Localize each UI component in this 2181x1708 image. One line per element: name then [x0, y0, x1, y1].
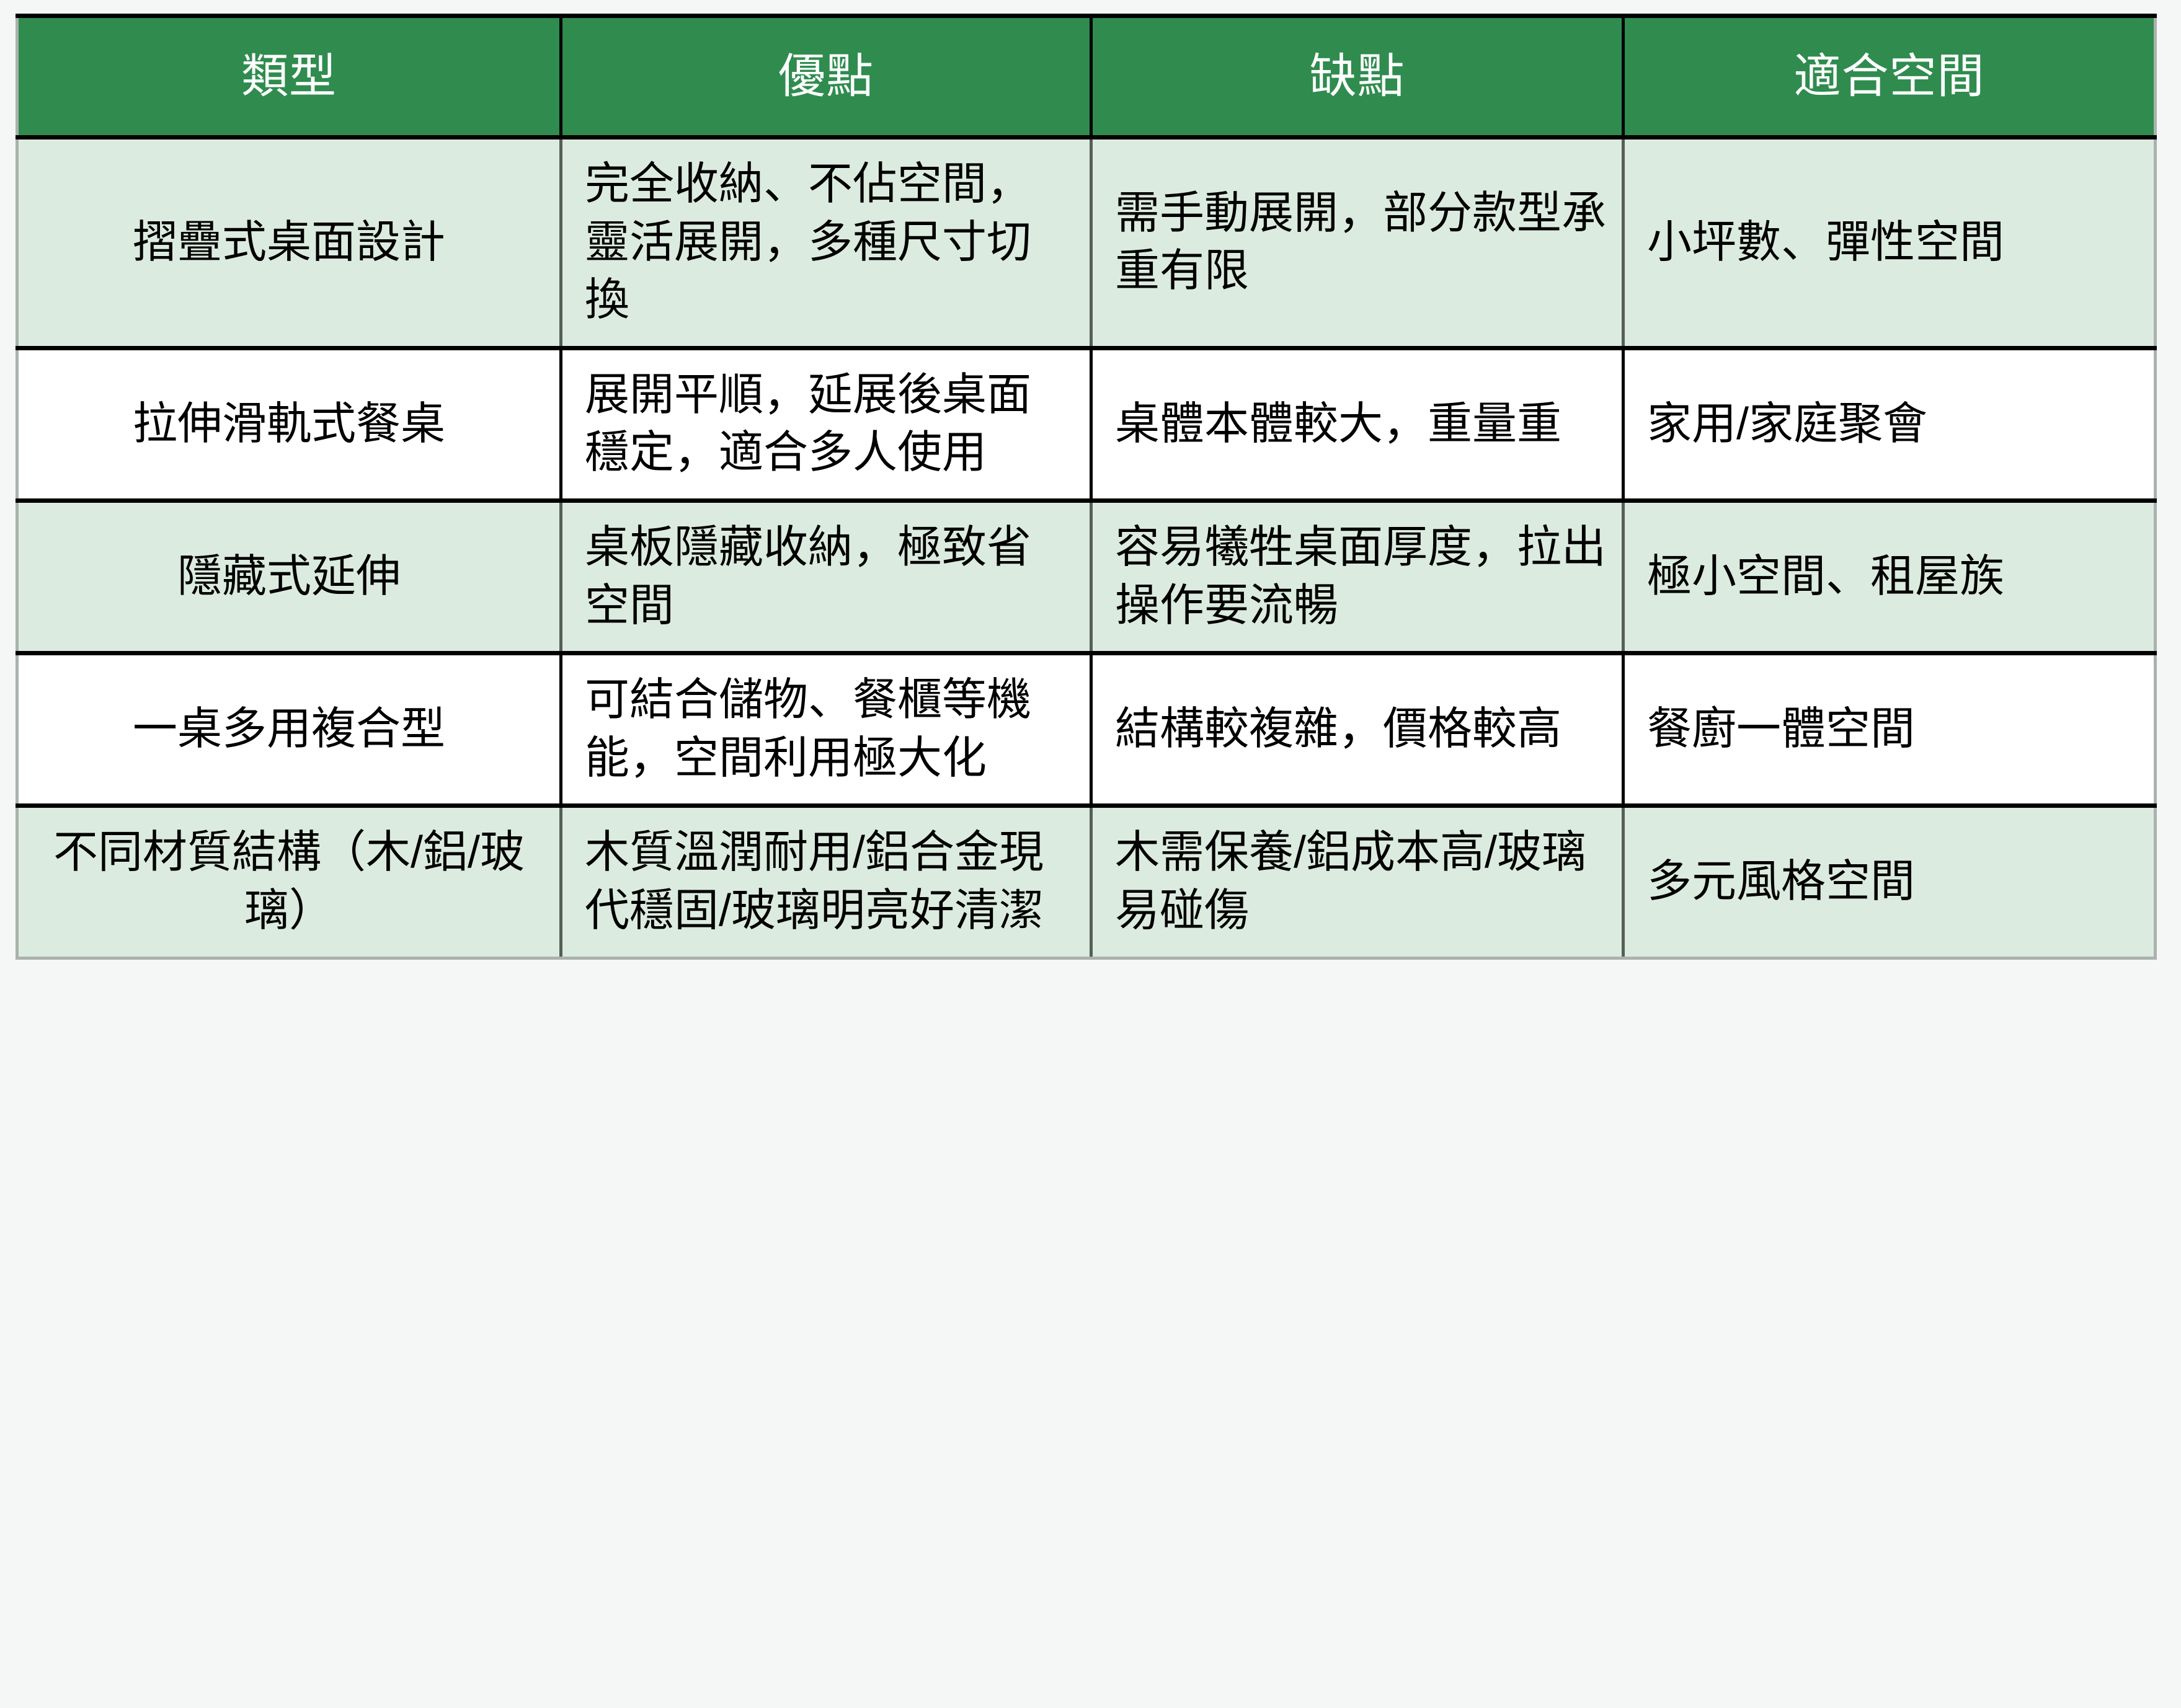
cell-space: 多元風格空間 — [1624, 806, 2156, 958]
cell-cons: 桌體本體較大，重量重 — [1091, 348, 1624, 500]
cell-space: 餐廚一體空間 — [1624, 653, 2156, 806]
cell-type: 拉伸滑軌式餐桌 — [17, 348, 561, 500]
cell-pros: 木質溫潤耐用/鋁合金現代穩固/玻璃明亮好清潔 — [561, 806, 1091, 958]
cell-pros: 完全收納、不佔空間，靈活展開，多種尺寸切換 — [561, 138, 1091, 348]
table-row: 不同材質結構（木/鋁/玻璃） 木質溫潤耐用/鋁合金現代穩固/玻璃明亮好清潔 木需… — [17, 806, 2156, 958]
table-row: 隱藏式延伸 桌板隱藏收納，極致省空間 容易犧牲桌面厚度，拉出操作要流暢 極小空間… — [17, 500, 2156, 653]
cell-space-text: 小坪數、彈性空間 — [1647, 214, 2139, 272]
cell-cons: 結構較複雜，價格較高 — [1091, 653, 1624, 806]
table-body: 摺疊式桌面設計 完全收納、不佔空間，靈活展開，多種尺寸切換 需手動展開，部分款型… — [17, 138, 2156, 958]
cell-space-text: 極小空間、租屋族 — [1647, 548, 2139, 606]
cell-cons: 容易犧牲桌面厚度，拉出操作要流暢 — [1091, 500, 1624, 653]
cell-cons: 木需保養/鋁成本高/玻璃易碰傷 — [1091, 806, 1624, 958]
cell-pros: 展開平順，延展後桌面穩定，適合多人使用 — [561, 348, 1091, 500]
comparison-table: 類型 優點 缺點 適合空間 摺疊式桌面設計 完全收納、不佔空間，靈活展開，多種尺… — [16, 14, 2157, 960]
cell-pros-text: 展開平順，延展後桌面穩定，適合多人使用 — [585, 366, 1075, 482]
cell-cons-text: 結構較複雜，價格較高 — [1115, 701, 1607, 759]
cell-pros-text: 桌板隱藏收納，極致省空間 — [585, 519, 1075, 635]
cell-type: 不同材質結構（木/鋁/玻璃） — [17, 806, 561, 958]
cell-type-text: 不同材質結構（木/鋁/玻璃） — [36, 824, 542, 940]
table-row: 拉伸滑軌式餐桌 展開平順，延展後桌面穩定，適合多人使用 桌體本體較大，重量重 家… — [17, 348, 2156, 500]
cell-space-text: 多元風格空間 — [1647, 853, 2139, 911]
column-header-cons: 缺點 — [1091, 16, 1624, 138]
cell-cons: 需手動展開，部分款型承重有限 — [1091, 138, 1624, 348]
cell-space: 小坪數、彈性空間 — [1624, 138, 2156, 348]
cell-pros: 可結合儲物、餐櫃等機能，空間利用極大化 — [561, 653, 1091, 806]
cell-pros-text: 完全收納、不佔空間，靈活展開，多種尺寸切換 — [585, 156, 1075, 330]
cell-type: 隱藏式延伸 — [17, 500, 561, 653]
cell-cons-text: 桌體本體較大，重量重 — [1115, 396, 1607, 454]
column-header-pros: 優點 — [561, 16, 1091, 138]
cell-space: 極小空間、租屋族 — [1624, 500, 2156, 653]
column-header-type: 類型 — [17, 16, 561, 138]
table-header-row: 類型 優點 缺點 適合空間 — [17, 16, 2156, 138]
column-header-space: 適合空間 — [1624, 16, 2156, 138]
cell-cons-text: 木需保養/鋁成本高/玻璃易碰傷 — [1115, 824, 1607, 940]
page-root: 類型 優點 缺點 適合空間 摺疊式桌面設計 完全收納、不佔空間，靈活展開，多種尺… — [0, 0, 2181, 1708]
cell-pros-text: 木質溫潤耐用/鋁合金現代穩固/玻璃明亮好清潔 — [585, 824, 1075, 940]
cell-space: 家用/家庭聚會 — [1624, 348, 2156, 500]
cell-cons-text: 需手動展開，部分款型承重有限 — [1115, 185, 1607, 301]
cell-type-text: 摺疊式桌面設計 — [36, 214, 542, 272]
cell-type-text: 一桌多用複合型 — [36, 701, 542, 759]
cell-space-text: 餐廚一體空間 — [1647, 701, 2139, 759]
cell-pros-text: 可結合儲物、餐櫃等機能，空間利用極大化 — [585, 671, 1075, 787]
cell-cons-text: 容易犧牲桌面厚度，拉出操作要流暢 — [1115, 519, 1607, 635]
table-row: 摺疊式桌面設計 完全收納、不佔空間，靈活展開，多種尺寸切換 需手動展開，部分款型… — [17, 138, 2156, 348]
cell-space-text: 家用/家庭聚會 — [1647, 396, 2139, 454]
cell-type-text: 拉伸滑軌式餐桌 — [36, 396, 542, 454]
cell-type: 一桌多用複合型 — [17, 653, 561, 806]
cell-type: 摺疊式桌面設計 — [17, 138, 561, 348]
table-row: 一桌多用複合型 可結合儲物、餐櫃等機能，空間利用極大化 結構較複雜，價格較高 餐… — [17, 653, 2156, 806]
cell-type-text: 隱藏式延伸 — [36, 548, 542, 606]
table-header: 類型 優點 缺點 適合空間 — [17, 16, 2156, 138]
cell-pros: 桌板隱藏收納，極致省空間 — [561, 500, 1091, 653]
